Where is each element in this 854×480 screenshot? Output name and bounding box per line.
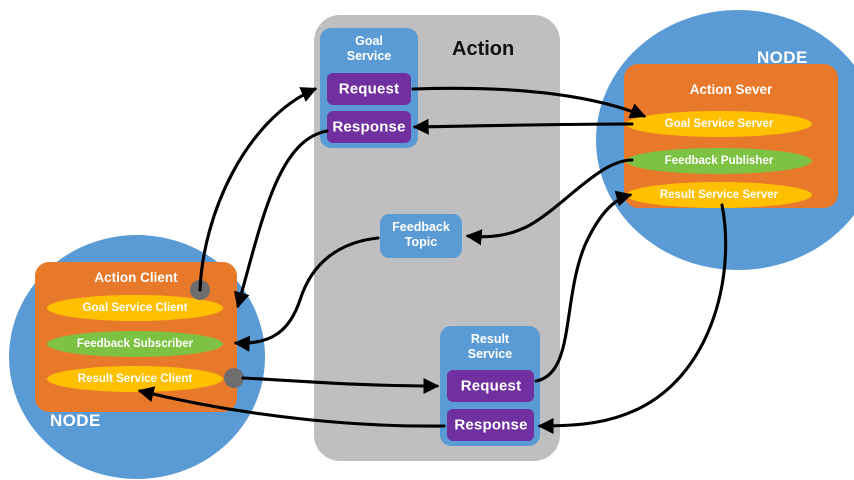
server-node-label: NODE [757,48,808,68]
action-client-title: Action Client [35,270,237,285]
result-service-server-label: Result Service Server [660,189,778,201]
result-service-response-label: Response [454,417,527,434]
result-service-title: Result Service [440,332,540,362]
feedback-subscriber-label: Feedback Subscriber [77,338,193,350]
goal-service-response-label: Response [332,119,405,136]
goal-service-server-label: Goal Service Server [665,118,774,130]
result-service-request-label: Request [461,378,522,395]
feedback-topic-title-line1: Feedback [380,220,462,235]
action-server-title: Action Sever [624,82,838,97]
feedback-topic-title-line2: Topic [380,235,462,250]
goal-service-request-label: Request [339,81,400,98]
result-service-client-label: Result Service Client [78,373,192,385]
action-architecture-diagram: Action NODE Action Sever Goal Service Se… [0,0,854,480]
feedback-topic-title: Feedback Topic [380,220,462,250]
result-client-connector-dot [224,368,244,388]
result-service-title-line2: Service [440,347,540,362]
goal-service-title-line2: Service [320,49,418,64]
feedback-publisher-label: Feedback Publisher [665,155,774,167]
goal-service-title-line1: Goal [320,34,418,49]
goal-service-client-label: Goal Service Client [83,302,188,314]
action-group-title: Action [452,38,514,61]
client-node-label: NODE [50,411,101,431]
result-service-title-line1: Result [440,332,540,347]
goal-service-title: Goal Service [320,34,418,64]
